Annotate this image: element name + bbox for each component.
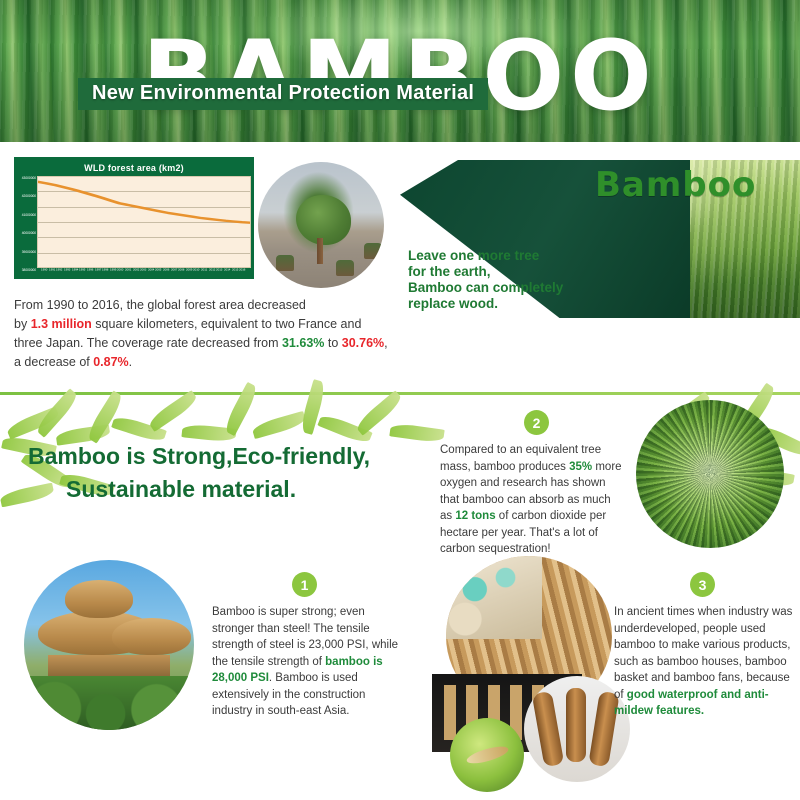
panel-slogan-line-4: replace wood.	[408, 296, 563, 312]
infographic-page: BAMBOO New Environmental Protection Mate…	[0, 0, 800, 800]
chart-line-series	[38, 177, 250, 267]
chart-title: WLD forest area (km2)	[17, 160, 251, 176]
intro-line-4b: .	[129, 355, 132, 369]
intro-line-2a: by	[14, 317, 31, 331]
chart-y-tick: 43000000	[22, 176, 36, 180]
chart-y-tick: 39000000	[22, 250, 36, 254]
stat-1-3-million: 1.3 million	[31, 317, 92, 331]
chart-x-tick: 2015	[232, 268, 238, 273]
chart-x-tick: 2013	[216, 268, 222, 273]
intro-line-2b: square kilometers, equivalent to two Fra…	[92, 317, 362, 331]
bamboo-house-photo	[24, 560, 194, 730]
fact-3-text-a: In ancient times when industry was under…	[614, 606, 792, 701]
chart-y-tick: 38000000	[22, 268, 36, 272]
panel-slogan-line-2: for the earth,	[408, 264, 563, 280]
fact-text-3: In ancient times when industry was under…	[614, 604, 796, 720]
forest-area-chart: WLD forest area (km2) 430000004200000041…	[14, 157, 254, 279]
fact-2-highlight-35: 35%	[569, 461, 592, 473]
stat-30-76: 30.76%	[342, 336, 384, 350]
lone-tree-photo	[258, 162, 384, 288]
chart-x-tick: 2012	[209, 268, 215, 273]
chart-x-tick: 1993	[64, 268, 70, 273]
fact-badge-3: 3	[690, 572, 715, 597]
chart-y-tick: 40000000	[22, 231, 36, 235]
headline-line-2: Sustainable material.	[28, 473, 398, 506]
chart-x-tick: 1990	[41, 268, 47, 273]
chart-x-axis: 1990199119921993199419951996199719981999…	[37, 268, 251, 276]
chart-x-tick: 2005	[155, 268, 161, 273]
chart-y-axis: 4300000042000000410000004000000039000000…	[17, 176, 37, 268]
intro-line-3a: three Japan. The coverage rate decreased…	[14, 336, 282, 350]
headline-line-1: Bamboo is Strong,Eco-friendly,	[28, 443, 370, 469]
chart-x-tick: 2000	[117, 268, 123, 273]
header-subtitle-banner: New Environmental Protection Material	[78, 78, 488, 110]
bamboo-products-collage	[432, 556, 620, 776]
chart-x-tick: 1998	[102, 268, 108, 273]
stat-0-87: 0.87%	[93, 355, 128, 369]
replace-wood-panel: Bamboo Leave one more tree for the earth…	[400, 160, 800, 318]
section-headline: Bamboo is Strong,Eco-friendly, Sustainab…	[28, 440, 398, 506]
panel-slogan-line-3: Bamboo can completely	[408, 280, 563, 296]
chart-plot-area	[37, 176, 251, 268]
chart-x-tick: 2006	[163, 268, 169, 273]
chart-x-tick: 1995	[79, 268, 85, 273]
chart-y-tick: 42000000	[22, 194, 36, 198]
chart-x-tick: 2014	[224, 268, 230, 273]
fact-text-1: Bamboo is super strong; even stronger th…	[212, 604, 408, 720]
intro-line-1: From 1990 to 2016, the global forest are…	[14, 298, 306, 312]
chart-x-tick: 2016	[239, 268, 245, 273]
chart-x-tick: 2003	[140, 268, 146, 273]
chart-x-tick: 1999	[110, 268, 116, 273]
chart-y-tick: 41000000	[22, 213, 36, 217]
panel-slogan: Leave one more tree for the earth, Bambo…	[408, 248, 563, 312]
forest-loss-paragraph: From 1990 to 2016, the global forest are…	[14, 296, 414, 372]
header-banner-image: BAMBOO New Environmental Protection Mate…	[0, 0, 800, 142]
fact-badge-1: 1	[292, 572, 317, 597]
chart-x-tick: 2009	[186, 268, 192, 273]
chart-x-tick: 2011	[201, 268, 207, 273]
fact-2-highlight-12-tons: 12 tons	[455, 510, 495, 522]
intro-line-4a: a decrease of	[14, 355, 93, 369]
chart-x-tick: 2010	[193, 268, 199, 273]
chart-x-tick: 2008	[178, 268, 184, 273]
intro-line-3b: to	[324, 336, 341, 350]
chart-x-tick: 1992	[56, 268, 62, 273]
fact-badge-2: 2	[524, 410, 549, 435]
chart-x-tick: 2001	[125, 268, 131, 273]
panel-word-bamboo: Bamboo	[595, 165, 756, 205]
panel-slogan-line-1: Leave one more tree	[408, 248, 563, 264]
chart-x-tick: 1991	[49, 268, 55, 273]
fact-3-highlight-waterproof: good waterproof and anti-mildew features…	[614, 689, 769, 718]
bamboo-canopy-world-map-photo	[636, 400, 784, 548]
chart-body: 4300000042000000410000004000000039000000…	[17, 176, 251, 268]
intro-line-3c: ,	[384, 336, 387, 350]
chart-x-tick: 1994	[72, 268, 78, 273]
chart-x-tick: 2002	[133, 268, 139, 273]
chart-x-tick: 1997	[95, 268, 101, 273]
chart-x-tick: 2007	[171, 268, 177, 273]
fact-text-2: Compared to an equivalent tree mass, bam…	[440, 442, 625, 558]
bamboo-shoot-photo	[450, 718, 524, 792]
stat-31-63: 31.63%	[282, 336, 324, 350]
chart-x-tick: 2004	[148, 268, 154, 273]
chart-x-tick: 1996	[87, 268, 93, 273]
